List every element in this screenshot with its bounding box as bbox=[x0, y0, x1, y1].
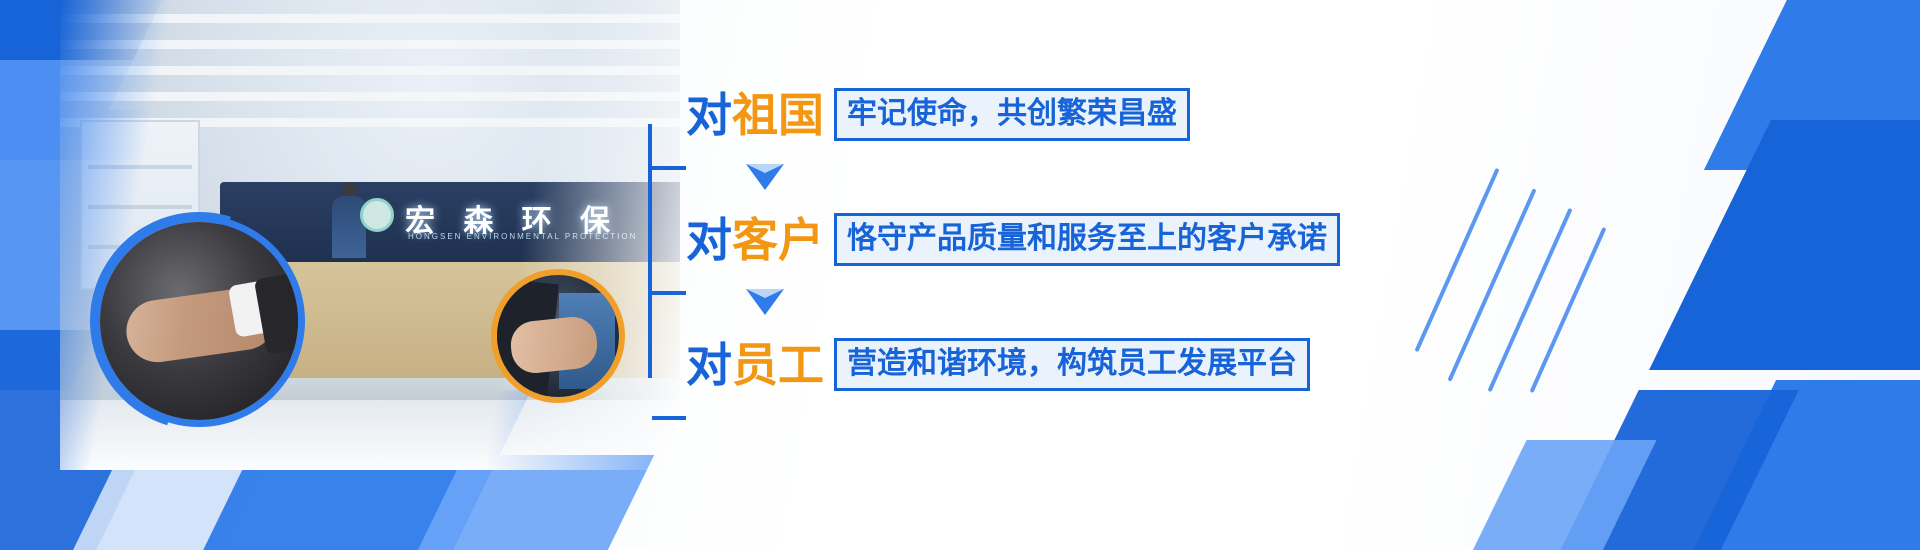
ceiling-band-2 bbox=[60, 40, 680, 49]
value-target-country: 祖国 bbox=[732, 89, 824, 141]
wall-shelf-1 bbox=[88, 165, 192, 169]
value-phrase-customer: 恪守产品质量和服务至上的客户承诺 bbox=[834, 213, 1340, 266]
value-target-customer: 客户 bbox=[732, 214, 824, 266]
value-prefix-country: 对 bbox=[686, 89, 732, 141]
value-row-country: 对祖国 牢记使命，共创繁荣昌盛 bbox=[686, 88, 1190, 141]
deco-shape-right-1 bbox=[1704, 0, 1920, 170]
value-target-employee: 员工 bbox=[732, 339, 824, 391]
deco-shape-right-4 bbox=[1541, 390, 1799, 550]
bracket-connector bbox=[648, 124, 682, 378]
value-row-customer: 对客户 恪守产品质量和服务至上的客户承诺 bbox=[686, 213, 1340, 266]
down-arrow-icon-2-highlight bbox=[746, 289, 784, 298]
values-list: 对祖国 牢记使命，共创繁荣昌盛 对客户 恪守产品质量和服务至上的客户承诺 对员工… bbox=[648, 78, 1368, 398]
bracket-tick-3 bbox=[652, 416, 686, 420]
ceiling-band-1 bbox=[60, 14, 680, 23]
value-phrase-country: 牢记使命，共创繁荣昌盛 bbox=[834, 88, 1190, 141]
deco-stripe-2 bbox=[1447, 188, 1536, 381]
deco-shape-right-5 bbox=[1453, 440, 1656, 550]
value-kicker-country: 对祖国 bbox=[686, 92, 824, 138]
ceiling-band-3 bbox=[60, 66, 680, 75]
value-kicker-employee: 对员工 bbox=[686, 342, 824, 388]
applause-photo-circle bbox=[497, 275, 619, 397]
wall-shelf-2 bbox=[88, 205, 192, 209]
company-logo-icon bbox=[360, 198, 394, 232]
deco-shape-right-3 bbox=[1664, 380, 1920, 550]
value-row-employee: 对员工 营造和谐环境，构筑员工发展平台 bbox=[686, 338, 1310, 391]
deco-stripe-4 bbox=[1530, 227, 1607, 393]
down-arrow-icon-1-highlight bbox=[746, 164, 784, 173]
bracket-tick-1 bbox=[652, 166, 686, 170]
value-phrase-employee: 营造和谐环境，构筑员工发展平台 bbox=[834, 338, 1310, 391]
company-logo-subtext: HONGSEN ENVIRONMENTAL PROTECTION bbox=[408, 232, 637, 241]
bracket-tick-2 bbox=[652, 291, 686, 295]
value-prefix-employee: 对 bbox=[686, 339, 732, 391]
ceiling-band-4 bbox=[60, 92, 680, 101]
receptionist-body bbox=[332, 196, 366, 258]
deco-shape-right-2 bbox=[1649, 120, 1920, 370]
deco-stripe-1 bbox=[1414, 168, 1499, 352]
deco-stripe-3 bbox=[1487, 208, 1572, 392]
value-prefix-customer: 对 bbox=[686, 214, 732, 266]
value-kicker-customer: 对客户 bbox=[686, 217, 824, 263]
corporate-values-banner: 宏 森 环 保 HONGSEN ENVIRONMENTAL PROTECTION… bbox=[0, 0, 1920, 550]
